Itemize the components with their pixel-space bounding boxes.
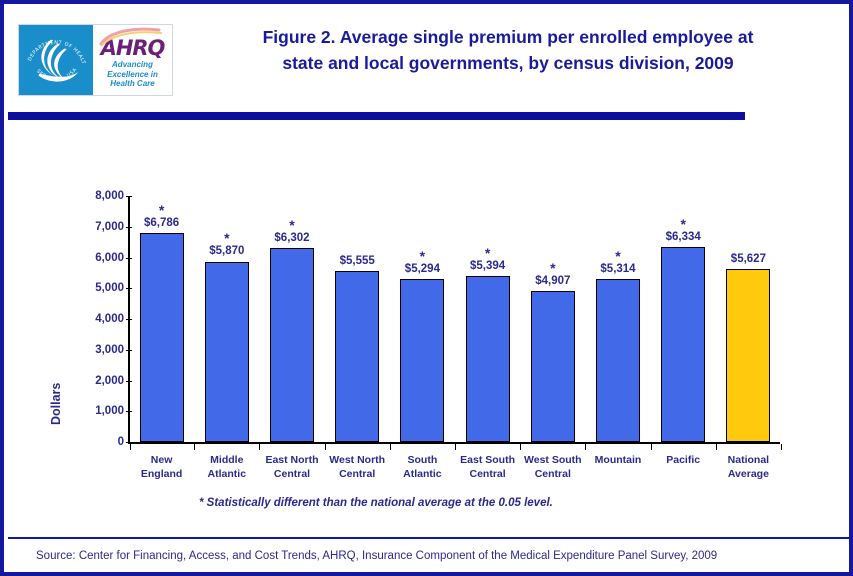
x-axis-category-label-line: Central [321,468,393,482]
bar-value-label: $5,870 [193,245,261,258]
y-axis-tick [126,258,132,259]
x-axis-category-label-line: National [712,454,784,468]
x-axis-line [128,442,780,444]
x-axis-tick [716,444,717,450]
source-divider-rule [8,537,853,539]
bar-value-label: $5,555 [323,255,391,268]
figure-title: Figure 2. Average single premium per enr… [188,24,828,76]
x-axis-category-label-line: Atlantic [386,468,458,482]
x-axis-category-label: West SouthCentral [517,454,589,481]
x-axis-tick [651,444,652,450]
y-axis-tick-label: 3,000 [95,344,124,356]
significance-footnote: * Statistically different than the natio… [199,497,553,509]
x-axis-category-label-line: Pacific [647,454,719,468]
bar-value-label: $4,907 [519,275,587,288]
hhs-seal-icon: DEPARTMENT OF HEALTH & HUMAN SERVICES · … [19,25,93,95]
significance-asterisk: * [663,219,703,229]
x-axis-category-label: East NorthCentral [256,454,328,481]
figure-title-line1: Figure 2. Average single premium per enr… [188,24,828,50]
bar-value-label: $6,786 [128,217,196,230]
bar[interactable] [466,276,510,442]
y-axis-tick [126,411,132,412]
ahrq-wordmark: AHRQ Advancing Excellence in Health Care [93,25,172,95]
x-axis-tick [781,444,782,450]
y-axis-tick-label: 4,000 [95,313,124,325]
ahrq-tagline-line3: Health Care [107,79,158,89]
source-note: Source: Center for Financing, Access, an… [36,550,717,562]
y-axis-tick-label: 6,000 [95,252,124,264]
significance-asterisk: * [598,251,638,261]
x-axis-tick [585,444,586,450]
x-axis-category-label: SouthAtlantic [386,454,458,481]
x-axis-category-label: Pacific [647,454,719,468]
bar-value-label: $5,627 [714,253,782,266]
bar[interactable] [726,269,770,442]
x-axis-tick [130,444,131,450]
y-axis-tick [126,288,132,289]
ahrq-swoosh-icon [99,27,171,47]
x-axis-category-label-line: South [386,454,458,468]
figure-frame: DEPARTMENT OF HEALTH & HUMAN SERVICES · … [0,0,853,576]
bar[interactable] [661,247,705,442]
y-axis-tick [126,319,132,320]
x-axis-category-label-line: Middle [191,454,263,468]
y-axis-line [128,196,130,444]
header-divider-rule [8,112,745,120]
plot-area: 8,0007,0006,0005,0004,0003,0002,0001,000… [124,192,780,444]
y-axis-tick-label: 7,000 [95,221,124,233]
svg-text:DEPARTMENT OF HEALTH & HUMAN: DEPARTMENT OF HEALTH & HUMAN [19,25,86,65]
x-axis-category-label-line: East North [256,454,328,468]
ahrq-logo: DEPARTMENT OF HEALTH & HUMAN SERVICES · … [18,24,173,96]
x-axis-category-label: West NorthCentral [321,454,393,481]
x-axis-category-label-line: West North [321,454,393,468]
y-axis-tick [126,442,132,443]
y-axis-tick-label: 0 [118,436,124,448]
bar[interactable] [596,279,640,442]
bar-value-label: $5,294 [388,263,456,276]
x-axis-category-label-line: England [126,468,198,482]
y-axis-tick-label: 8,000 [95,190,124,202]
significance-asterisk: * [142,205,182,215]
y-axis-title: Dollars [49,405,63,425]
bar-value-label: $6,334 [649,231,717,244]
bar[interactable] [400,279,444,442]
bar[interactable] [531,291,575,442]
ahrq-tagline-line2: Excellence in [107,70,158,80]
x-axis-category-label-line: Mountain [582,454,654,468]
x-axis-category-label-line: New [126,454,198,468]
significance-asterisk: * [468,248,508,258]
x-axis-tick [259,444,260,450]
ahrq-tagline-line1: Advancing [107,60,158,70]
x-axis-category-label-line: Central [452,468,524,482]
x-axis-tick [325,444,326,450]
x-axis-category-label-line: Average [712,468,784,482]
bar-value-label: $5,314 [584,263,652,276]
y-axis-tick [126,350,132,351]
x-axis-category-label: Mountain [582,454,654,468]
y-axis-tick-label: 2,000 [95,375,124,387]
x-axis-category-label: East SouthCentral [452,454,524,481]
y-axis-tick-label: 1,000 [95,405,124,417]
x-axis-category-label-line: East South [452,454,524,468]
y-axis-tick-label: 5,000 [95,282,124,294]
x-axis-tick [390,444,391,450]
significance-asterisk: * [533,263,573,273]
x-axis-category-label-line: Central [517,468,589,482]
bar[interactable] [205,262,249,443]
y-axis-tick [126,381,132,382]
bar-value-label: $5,394 [454,260,522,273]
y-axis-tick [126,196,132,197]
figure-header: DEPARTMENT OF HEALTH & HUMAN SERVICES · … [8,8,853,104]
bar[interactable] [335,271,379,442]
bar[interactable] [140,233,184,442]
x-axis-category-label: NationalAverage [712,454,784,481]
x-axis-tick [194,444,195,450]
bar-value-label: $6,302 [258,232,326,245]
x-axis-category-label: MiddleAtlantic [191,454,263,481]
x-axis-category-label: NewEngland [126,454,198,481]
significance-asterisk: * [272,220,312,230]
significance-asterisk: * [207,233,247,243]
ahrq-tagline: Advancing Excellence in Health Care [107,60,158,89]
x-axis-category-label-line: Atlantic [191,468,263,482]
figure-title-line2: state and local governments, by census d… [188,50,828,76]
x-axis-tick [520,444,521,450]
x-axis-tick [455,444,456,450]
x-axis-category-label-line: West South [517,454,589,468]
significance-asterisk: * [402,251,442,261]
x-axis-category-label-line: Central [256,468,328,482]
bar-chart: Dollars 8,0007,0006,0005,0004,0003,0002,… [8,126,853,526]
bar[interactable] [270,248,314,442]
